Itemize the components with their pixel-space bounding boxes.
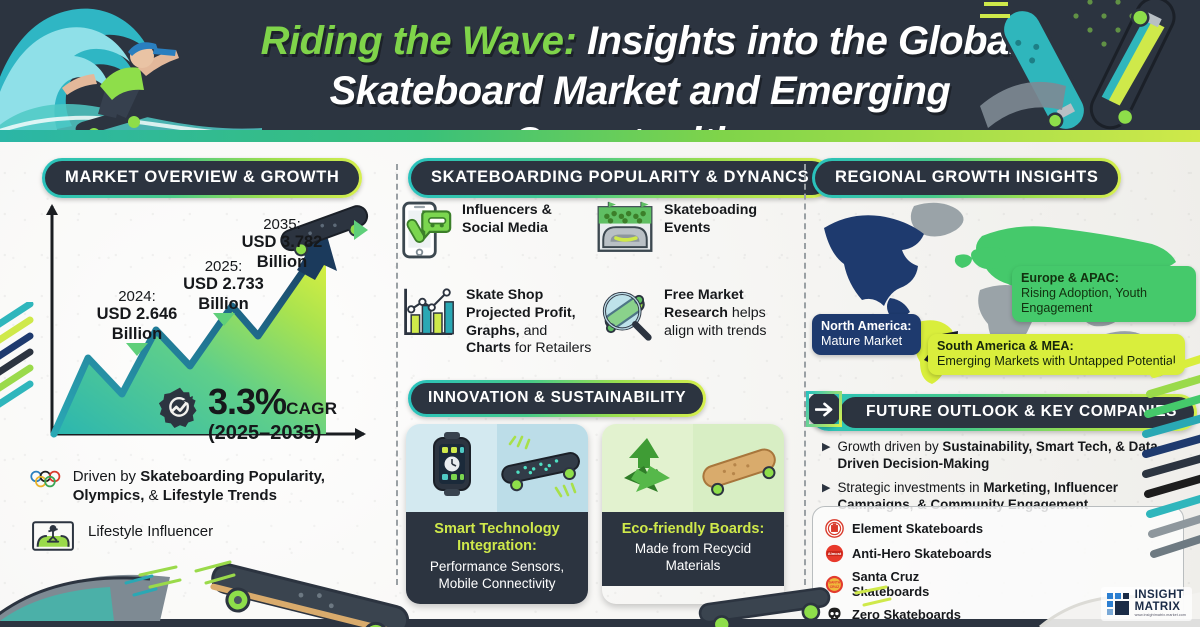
market-drivers-notes: Driven by Skateboarding Popularity, Olym… — [30, 464, 380, 567]
growth-gear-icon — [158, 384, 202, 428]
pointer-triangle-icon — [126, 343, 148, 356]
right-arrow-icon — [815, 402, 834, 417]
header-title-line1: Riding the Wave: Insights into the Globa… — [200, 16, 1080, 66]
section-title-market-overview: MARKET OVERVIEW & GROWTH — [45, 161, 359, 195]
popularity-item-text: Free Market Research helps align with tr… — [664, 285, 792, 340]
skatepark-event-icon — [596, 200, 654, 263]
note-text: Driven by Skateboarding Popularity, Olym… — [73, 464, 380, 505]
insight-matrix-logo: INSIGHT MATRIX www.insightmatrix.market.… — [1101, 587, 1192, 621]
section-header-popularity: SKATEBOARDING POPULARITY & DYNANCS — [408, 158, 832, 198]
map-callout-sub: Emerging Markets with Untapped Potential — [937, 354, 1176, 368]
header-title-rest: Insights into the Global — [576, 19, 1019, 63]
innovation-card: Eco-friendly Boards: Made from Recycid M… — [602, 424, 784, 604]
innovation-card-body: Eco-friendly Boards: Made from Recycid M… — [602, 512, 784, 586]
note-text: Lifestyle Influencer — [88, 519, 213, 541]
brand-name: Santa Cruz Skateboards — [852, 569, 999, 599]
crossed-skateboards-decoration — [980, 0, 1200, 142]
bullet-plain: Growth driven by — [837, 439, 942, 454]
popularity-item-text: Skate Shop Projected Profit, Graphs, and… — [466, 285, 596, 358]
smartwatch-and-board-image — [406, 424, 588, 512]
popularity-item-bold: Influencers & Social Media — [462, 202, 552, 236]
bullet-plain: Strategic investments in — [837, 480, 983, 495]
logo-line2: MATRIX — [1135, 602, 1186, 614]
popularity-item: Skateboading Events — [596, 200, 792, 265]
header-gradient-strip — [0, 130, 1200, 142]
section-header-innovation: INNOVATION & SUSTAINABILITY — [408, 380, 706, 417]
innovation-card: Smart Technology Integration: Performanc… — [406, 424, 588, 604]
recycle-and-longboard-image — [602, 424, 784, 512]
smartphone-chat-icon — [400, 200, 452, 265]
cagr-badge: 3.3%CAGR (2025–2035) — [158, 384, 337, 443]
section-title-future-outlook: FUTURE OUTLOOK & KEY COMPANIES — [840, 397, 1194, 428]
map-callout-title: South America & MEA: — [937, 339, 1176, 354]
skate-ramp-icon — [30, 519, 76, 553]
popularity-items-grid: Influencers & Social Media — [400, 200, 792, 378]
popularity-item: Free Market Research helps align with tr… — [596, 285, 792, 358]
chart-label-2025-value: USD 2.733 Billion — [166, 275, 281, 313]
innovation-card-title: Eco-friendly Boards: — [610, 521, 776, 538]
note-tail: & — [144, 487, 162, 504]
column-popularity-dynamics: SKATEBOARDING POPULARITY & DYNANCS — [392, 142, 800, 627]
future-outlook-arrow-badge — [806, 391, 842, 427]
column-market-overview: MARKET OVERVIEW & GROWTH — [0, 142, 392, 627]
logo-tagline: www.insightmatrix.market.com — [1135, 614, 1186, 618]
innovation-card-sub: Performance Sensors, Mobile Connectivity — [414, 558, 580, 592]
pointer-arrow-icon — [354, 220, 368, 240]
innovation-card-sub: Made from Recycid Materials — [610, 540, 776, 574]
map-callout-south-america-mea: South America & MEA: Emerging Markets wi… — [928, 334, 1185, 375]
bullet-item: ▶ Growth driven by Sustainability, Smart… — [822, 438, 1194, 473]
brand-name: Zero Skateboards — [852, 607, 961, 622]
popularity-item-text: Skateboading Events — [664, 200, 792, 238]
world-map: North America: Mature Market Europe & AP… — [806, 194, 1196, 390]
header-banner: Riding the Wave: Insights into the Globa… — [0, 0, 1200, 142]
almost-logo-icon: Almost — [825, 544, 844, 563]
section-header-regional: REGIONAL GROWTH INSIGHTS — [812, 158, 1121, 198]
olympic-rings-icon — [30, 464, 61, 494]
map-callout-title: Europe & APAC: — [1021, 271, 1187, 286]
section-title-innovation: INNOVATION & SUSTAINABILITY — [411, 383, 703, 414]
header-title-block: Riding the Wave: Insights into the Globa… — [200, 16, 1080, 142]
section-header-market-overview: MARKET OVERVIEW & GROWTH — [42, 158, 362, 198]
cagr-period: (2025–2035) — [208, 423, 337, 443]
content-columns: MARKET OVERVIEW & GROWTH — [0, 142, 1200, 627]
section-header-future-outlook: FUTURE OUTLOOK & KEY COMPANIES — [810, 394, 1197, 431]
cagr-unit: CAGR — [286, 399, 337, 418]
brand-name: Anti-Hero Skateboards — [852, 546, 992, 561]
caret-icon: ▶ — [822, 438, 830, 473]
brand-item: Zero Skateboards — [825, 605, 999, 624]
note-row: Driven by Skateboarding Popularity, Olym… — [30, 464, 380, 505]
pointer-triangle-icon — [213, 313, 235, 326]
brand-name: Element Skateboards — [852, 521, 983, 536]
note-row: Lifestyle Influencer — [30, 519, 380, 553]
svg-text:CRUZ: CRUZ — [830, 584, 839, 588]
popularity-item-rest: and — [520, 323, 548, 339]
cagr-value: 3.3% — [208, 381, 286, 422]
innovation-card-title: Smart Technology Integration: — [414, 521, 580, 556]
cagr-text: 3.3%CAGR (2025–2035) — [208, 384, 337, 443]
magnifier-board-icon — [596, 285, 654, 348]
bullet-text: Growth driven by Sustainability, Smart T… — [837, 438, 1194, 473]
brand-item: Almost Anti-Hero Skateboards — [825, 544, 999, 563]
popularity-item: Influencers & Social Media — [400, 200, 596, 265]
chart-label-2035-year: 2035: — [222, 216, 342, 233]
innovation-card-body: Smart Technology Integration: Performanc… — [406, 512, 588, 604]
insight-matrix-mark-icon — [1107, 593, 1129, 615]
section-title-regional: REGIONAL GROWTH INSIGHTS — [815, 161, 1118, 195]
map-callout-sub: Mature Market — [821, 334, 902, 348]
svg-text:Almost: Almost — [828, 551, 842, 556]
popularity-item-tail: for Retailers — [511, 340, 591, 356]
note-plain: Driven by — [73, 468, 141, 485]
map-callout-north-america: North America: Mature Market — [812, 314, 921, 355]
popularity-item: Skate Shop Projected Profit, Graphs, and… — [400, 285, 596, 358]
map-callout-europe-apac: Europe & APAC: Rising Adoption, Youth En… — [1012, 266, 1196, 322]
chart-label-2035-value: USD 3.782 Billion — [222, 233, 342, 271]
chart-label-2035: 2035: USD 3.782 Billion — [222, 216, 342, 272]
innovation-cards: Smart Technology Integration: Performanc… — [406, 424, 790, 604]
element-logo-icon — [825, 519, 844, 538]
section-title-popularity: SKATEBOARDING POPULARITY & DYNANCS — [411, 161, 829, 195]
column-regional-insights: REGIONAL GROWTH INSIGHTS — [800, 142, 1200, 627]
zero-skull-logo-icon — [825, 605, 844, 624]
header-title-accent: Riding the Wave: — [261, 19, 577, 63]
note-bold2: Lifestyle Trends — [163, 487, 277, 504]
brand-item: Element Skateboards — [825, 519, 999, 538]
insight-matrix-wordmark: INSIGHT MATRIX www.insightmatrix.market.… — [1135, 590, 1186, 618]
svg-text:SANTA: SANTA — [829, 580, 841, 584]
santa-cruz-logo-icon: SANTA CRUZ — [825, 575, 844, 594]
popularity-item-text: Influencers & Social Media — [462, 200, 596, 238]
map-callout-title: North America: — [821, 319, 912, 334]
infographic-root: Riding the Wave: Insights into the Globa… — [0, 0, 1200, 627]
popularity-item-bold: Skateboading Events — [664, 202, 757, 236]
bar-chart-icon — [400, 285, 456, 348]
map-callout-sub: Rising Adoption, Youth Engagement — [1021, 286, 1147, 315]
market-growth-chart: 2024: USD 2.646 Billion 2025: USD 2.733 … — [26, 198, 376, 458]
popularity-item-bold2: Charts — [466, 340, 511, 356]
brand-item: SANTA CRUZ Santa Cruz Skateboards — [825, 569, 999, 599]
